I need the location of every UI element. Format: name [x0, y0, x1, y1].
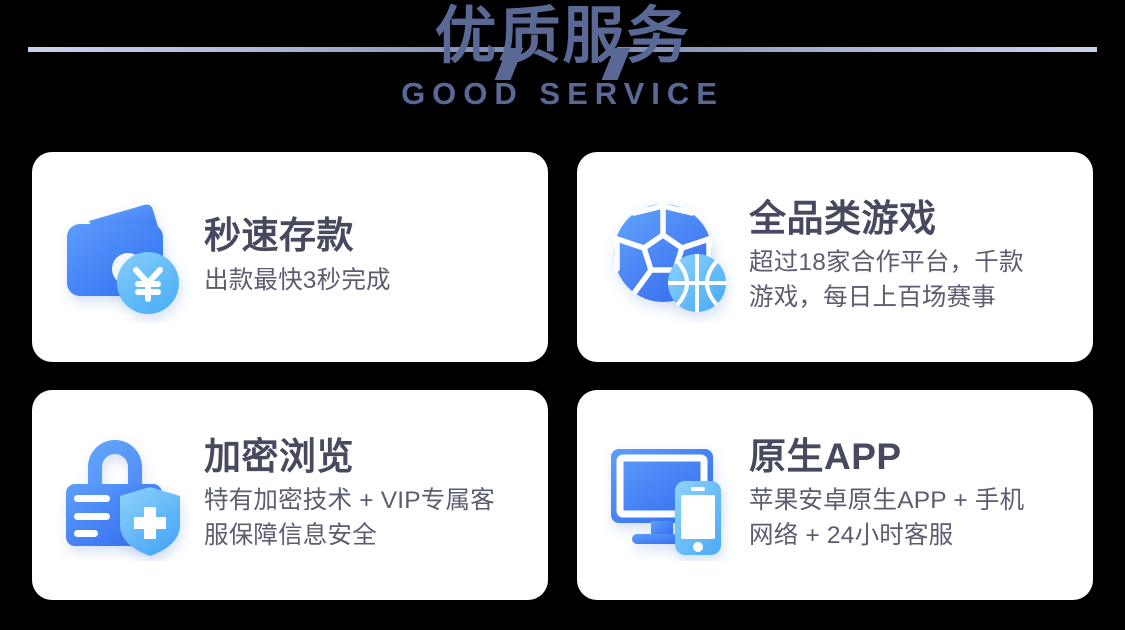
monitor-phone-icon: [603, 429, 735, 561]
card-description: 出款最快3秒完成: [204, 264, 532, 299]
header-title-block: 优质服务 GOOD SERVICE: [0, 6, 1125, 112]
feature-card-games[interactable]: 全品类游戏 超过18家合作平台，千款 游戏，每日上百场赛事: [577, 152, 1093, 362]
card-description-line: 苹果安卓原生APP + 手机: [749, 484, 1077, 519]
card-description-line: 游戏，每日上百场赛事: [749, 281, 1077, 316]
card-title: 原生APP: [749, 436, 1077, 477]
card-description: 苹果安卓原生APP + 手机 网络 + 24小时客服: [749, 484, 1077, 554]
page-title: 优质服务: [0, 6, 1125, 68]
feature-card-deposit[interactable]: 秒速存款 出款最快3秒完成: [32, 152, 548, 362]
soccer-basketball-icon: [603, 191, 735, 323]
card-description-line: 超过18家合作平台，千款: [749, 246, 1077, 281]
card-description-line: 出款最快3秒完成: [204, 264, 532, 299]
card-description-line: 服保障信息安全: [204, 519, 532, 554]
feature-card-native-app[interactable]: 原生APP 苹果安卓原生APP + 手机 网络 + 24小时客服: [577, 390, 1093, 600]
feature-card-encryption[interactable]: 加密浏览 特有加密技术 + VIP专属客 服保障信息安全: [32, 390, 548, 600]
service-feature-banner: 优质服务 GOOD SERVICE: [0, 0, 1125, 630]
page-subtitle: GOOD SERVICE: [0, 76, 1125, 112]
card-description-line: 特有加密技术 + VIP专属客: [204, 484, 532, 519]
feature-card-text: 全品类游戏 超过18家合作平台，千款 游戏，每日上百场赛事: [749, 198, 1077, 316]
card-description-line: 网络 + 24小时客服: [749, 519, 1077, 554]
banner-header: 优质服务 GOOD SERVICE: [0, 0, 1125, 140]
wallet-coin-icon: [58, 191, 190, 323]
feature-card-grid: 秒速存款 出款最快3秒完成: [32, 152, 1093, 600]
card-description: 特有加密技术 + VIP专属客 服保障信息安全: [204, 484, 532, 554]
card-title: 加密浏览: [204, 436, 532, 477]
feature-card-text: 秒速存款 出款最快3秒完成: [204, 215, 532, 298]
card-title: 秒速存款: [204, 215, 532, 256]
lock-shield-icon: [58, 429, 190, 561]
card-description: 超过18家合作平台，千款 游戏，每日上百场赛事: [749, 246, 1077, 316]
feature-card-text: 加密浏览 特有加密技术 + VIP专属客 服保障信息安全: [204, 436, 532, 554]
card-title: 全品类游戏: [749, 198, 1077, 239]
feature-card-text: 原生APP 苹果安卓原生APP + 手机 网络 + 24小时客服: [749, 436, 1077, 554]
